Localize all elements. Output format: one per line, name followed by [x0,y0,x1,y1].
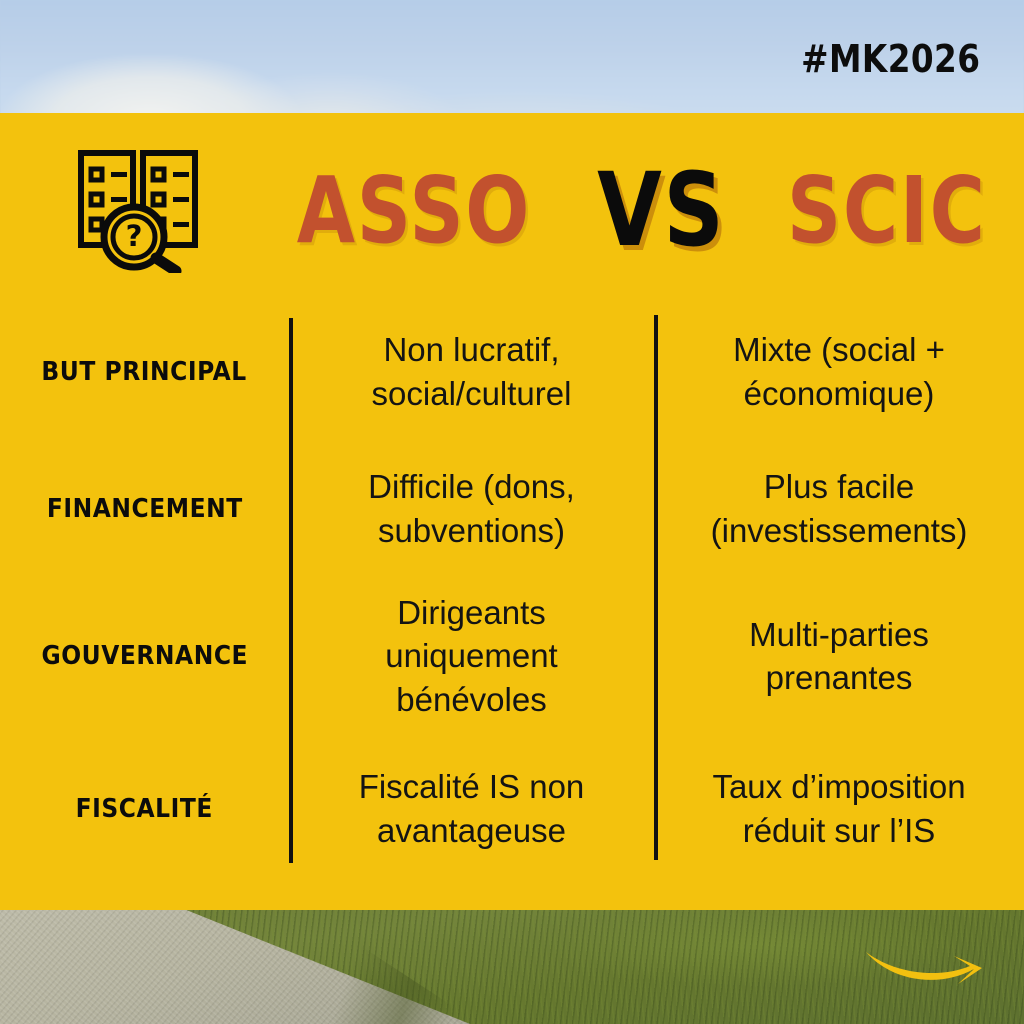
yellow-content-panel: ? ASSO VS SCIC BUT PRINCIPAL Non lucrati… [0,113,1024,910]
table-cell-asso-gouvernance: Dirigeants uniquement bénévoles [289,577,654,735]
title-scic: SCIC [787,165,987,257]
row-label-fiscalite: FISCALITÉ [76,794,213,824]
table-cell-asso-fiscalite: Fiscalité IS non avantageuse [289,735,654,883]
row-label-gouvernance: GOUVERNANCE [41,641,248,671]
title-versus: VS [597,160,725,262]
table-cell-scic-but-principal: Mixte (social + économique) [654,303,1024,440]
header-section: ? ASSO VS SCIC [0,113,1024,303]
hashtag-label: #MK2026 [801,40,980,78]
table-row: FISCALITÉ [0,735,289,883]
table-cell-asso-but-principal: Non lucratif, social/culturel [289,303,654,440]
cell-text: Fiscalité IS non avantageuse [307,765,637,852]
row-label-financement: FINANCEMENT [47,494,243,524]
table-row: FINANCEMENT [0,440,289,577]
svg-text:?: ? [126,219,143,253]
table-cell-scic-financement: Plus facile (investissements) [654,440,1024,577]
cell-text: Difficile (dons, subventions) [307,465,637,552]
cell-text: Mixte (social + économique) [674,328,1004,415]
comparison-table: BUT PRINCIPAL Non lucratif, social/cultu… [0,303,1024,883]
table-row: GOUVERNANCE [0,577,289,735]
curved-arrow-right-icon [862,938,992,1000]
cell-text: Non lucratif, social/culturel [307,328,637,415]
table-cell-asso-financement: Difficile (dons, subventions) [289,440,654,577]
compare-documents-magnifier-question-icon: ? [72,145,204,273]
title-asso: ASSO [297,165,531,257]
cell-text: Multi-parties prenantes [674,613,1004,700]
cell-text: Plus facile (investissements) [674,465,1004,552]
cell-text: Dirigeants uniquement bénévoles [307,591,637,722]
row-label-but-principal: BUT PRINCIPAL [42,357,247,387]
title-row: ASSO VS SCIC [290,151,990,271]
cell-text: Taux d’imposition réduit sur l’IS [674,765,1004,852]
table-cell-scic-fiscalite: Taux d’imposition réduit sur l’IS [654,735,1024,883]
comparison-grid: BUT PRINCIPAL Non lucratif, social/cultu… [0,303,1024,883]
table-row: BUT PRINCIPAL [0,303,289,440]
infographic-canvas: #MK2026 [0,0,1024,1024]
table-cell-scic-gouvernance: Multi-parties prenantes [654,577,1024,735]
